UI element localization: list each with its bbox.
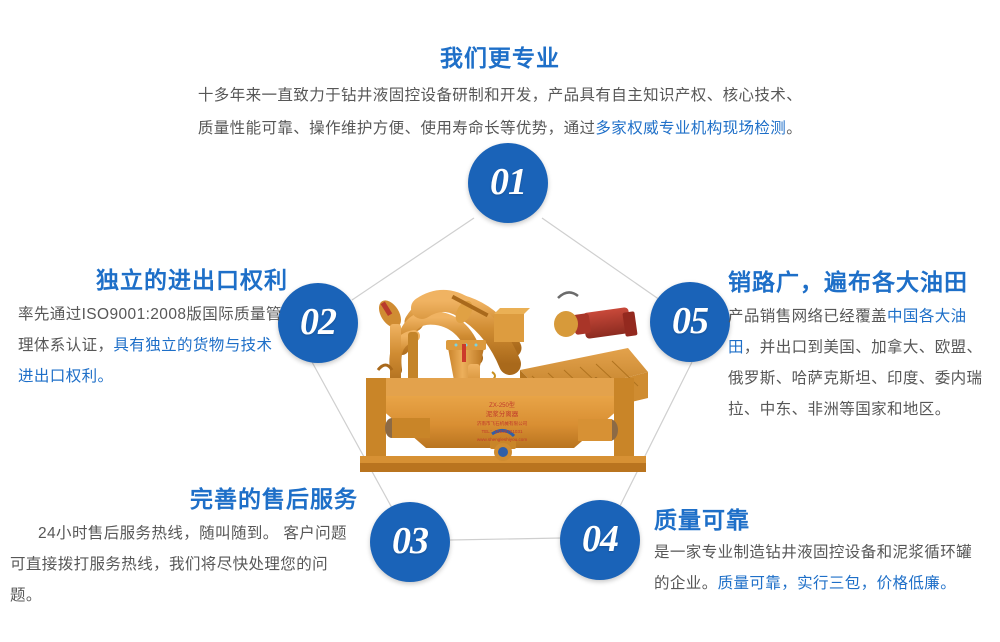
svg-text:TEL：15936721031: TEL：15936721031 [481, 429, 523, 434]
br-body-highlight: 质量可靠，实行三包，价格低廉。 [718, 575, 957, 592]
top-body-line1: 十多年来一直致力于钻井液固控设备研制和开发，产品具有自主知识产权、核心技术、 [198, 87, 802, 104]
feature-block-right: 销路广，遍布各大油田 产品销售网络已经覆盖中国各大油田，并出口到美国、加拿大、欧… [728, 268, 990, 425]
step-number-03: 03 [392, 519, 428, 563]
step-number-04: 04 [582, 517, 618, 561]
step-circle-01[interactable]: 01 [468, 143, 548, 223]
step-circle-03[interactable]: 03 [370, 502, 450, 582]
line-03-to-04 [450, 538, 562, 540]
svg-text:泥浆分离器: 泥浆分离器 [486, 409, 519, 418]
feature-heading-top: 我们更专业 [150, 44, 850, 73]
infographic-canvas: ZX-250型 泥浆分离器 济南市飞石机械有限公司 TEL：1593672103… [0, 0, 1000, 642]
feature-body-left: 率先通过ISO9001:2008版国际质量管理体系认证，具有独立的货物与技术进出… [18, 299, 288, 392]
svg-text:济南市飞石机械有限公司: 济南市飞石机械有限公司 [477, 420, 528, 427]
step-number-02: 02 [300, 300, 336, 344]
feature-block-bottom-right: 质量可靠 是一家专业制造钻井液固控设备和泥浆循环罐的企业。质量可靠，实行三包，价… [654, 506, 984, 599]
top-body-line2-a: 质量性能可靠、操作维护方便、使用寿命长等优势，通过 [198, 120, 596, 137]
step-number-01: 01 [490, 160, 526, 204]
step-circle-02[interactable]: 02 [278, 283, 358, 363]
feature-heading-left: 独立的进出口权利 [18, 266, 288, 295]
svg-text:www.shengleshiyou.com: www.shengleshiyou.com [477, 437, 527, 442]
feature-body-right: 产品销售网络已经覆盖中国各大油田，并出口到美国、加拿大、欧盟、俄罗斯、哈萨克斯坦… [728, 301, 990, 425]
svg-text:ZX-250型: ZX-250型 [489, 401, 515, 409]
feature-body-bottom-right: 是一家专业制造钻井液固控设备和泥浆循环罐的企业。质量可靠，实行三包，价格低廉。 [654, 537, 984, 599]
tank-hopper: ZX-250型 泥浆分离器 济南市飞石机械有限公司 TEL：1593672103… [360, 365, 646, 472]
vibration-motor [554, 292, 638, 339]
feature-heading-right: 销路广，遍布各大油田 [728, 268, 990, 297]
feature-block-bottom-left: 完善的售后服务 24小时售后服务热线，随叫随到。 客户问题可直接拨打服务热线，我… [10, 485, 358, 611]
top-body-highlight: 多家权威专业机构现场检测 [595, 120, 786, 137]
right-body-plain-b: ，并出口到美国、加拿大、欧盟、俄罗斯、哈萨克斯坦、印度、委内瑞拉、中东、非洲等国… [728, 339, 982, 418]
feature-heading-bottom-right: 质量可靠 [654, 506, 984, 535]
right-body-plain-a: 产品销售网络已经覆盖 [728, 308, 887, 325]
feature-heading-bottom-left: 完善的售后服务 [10, 485, 358, 514]
feature-block-left: 独立的进出口权利 率先通过ISO9001:2008版国际质量管理体系认证，具有独… [18, 266, 288, 392]
machine-photo: ZX-250型 泥浆分离器 济南市飞石机械有限公司 TEL：1593672103… [352, 252, 652, 484]
feature-body-top: 十多年来一直致力于钻井液固控设备研制和开发，产品具有自主知识产权、核心技术、 质… [150, 79, 850, 145]
step-circle-05[interactable]: 05 [650, 282, 730, 362]
step-number-05: 05 [672, 299, 708, 343]
top-body-line2-c: 。 [786, 120, 802, 137]
feature-block-top: 我们更专业 十多年来一直致力于钻井液固控设备研制和开发，产品具有自主知识产权、核… [150, 44, 850, 145]
step-circle-04[interactable]: 04 [560, 500, 640, 580]
feature-body-bottom-left: 24小时售后服务热线，随叫随到。 客户问题可直接拨打服务热线，我们将尽快处理您的… [10, 518, 358, 611]
